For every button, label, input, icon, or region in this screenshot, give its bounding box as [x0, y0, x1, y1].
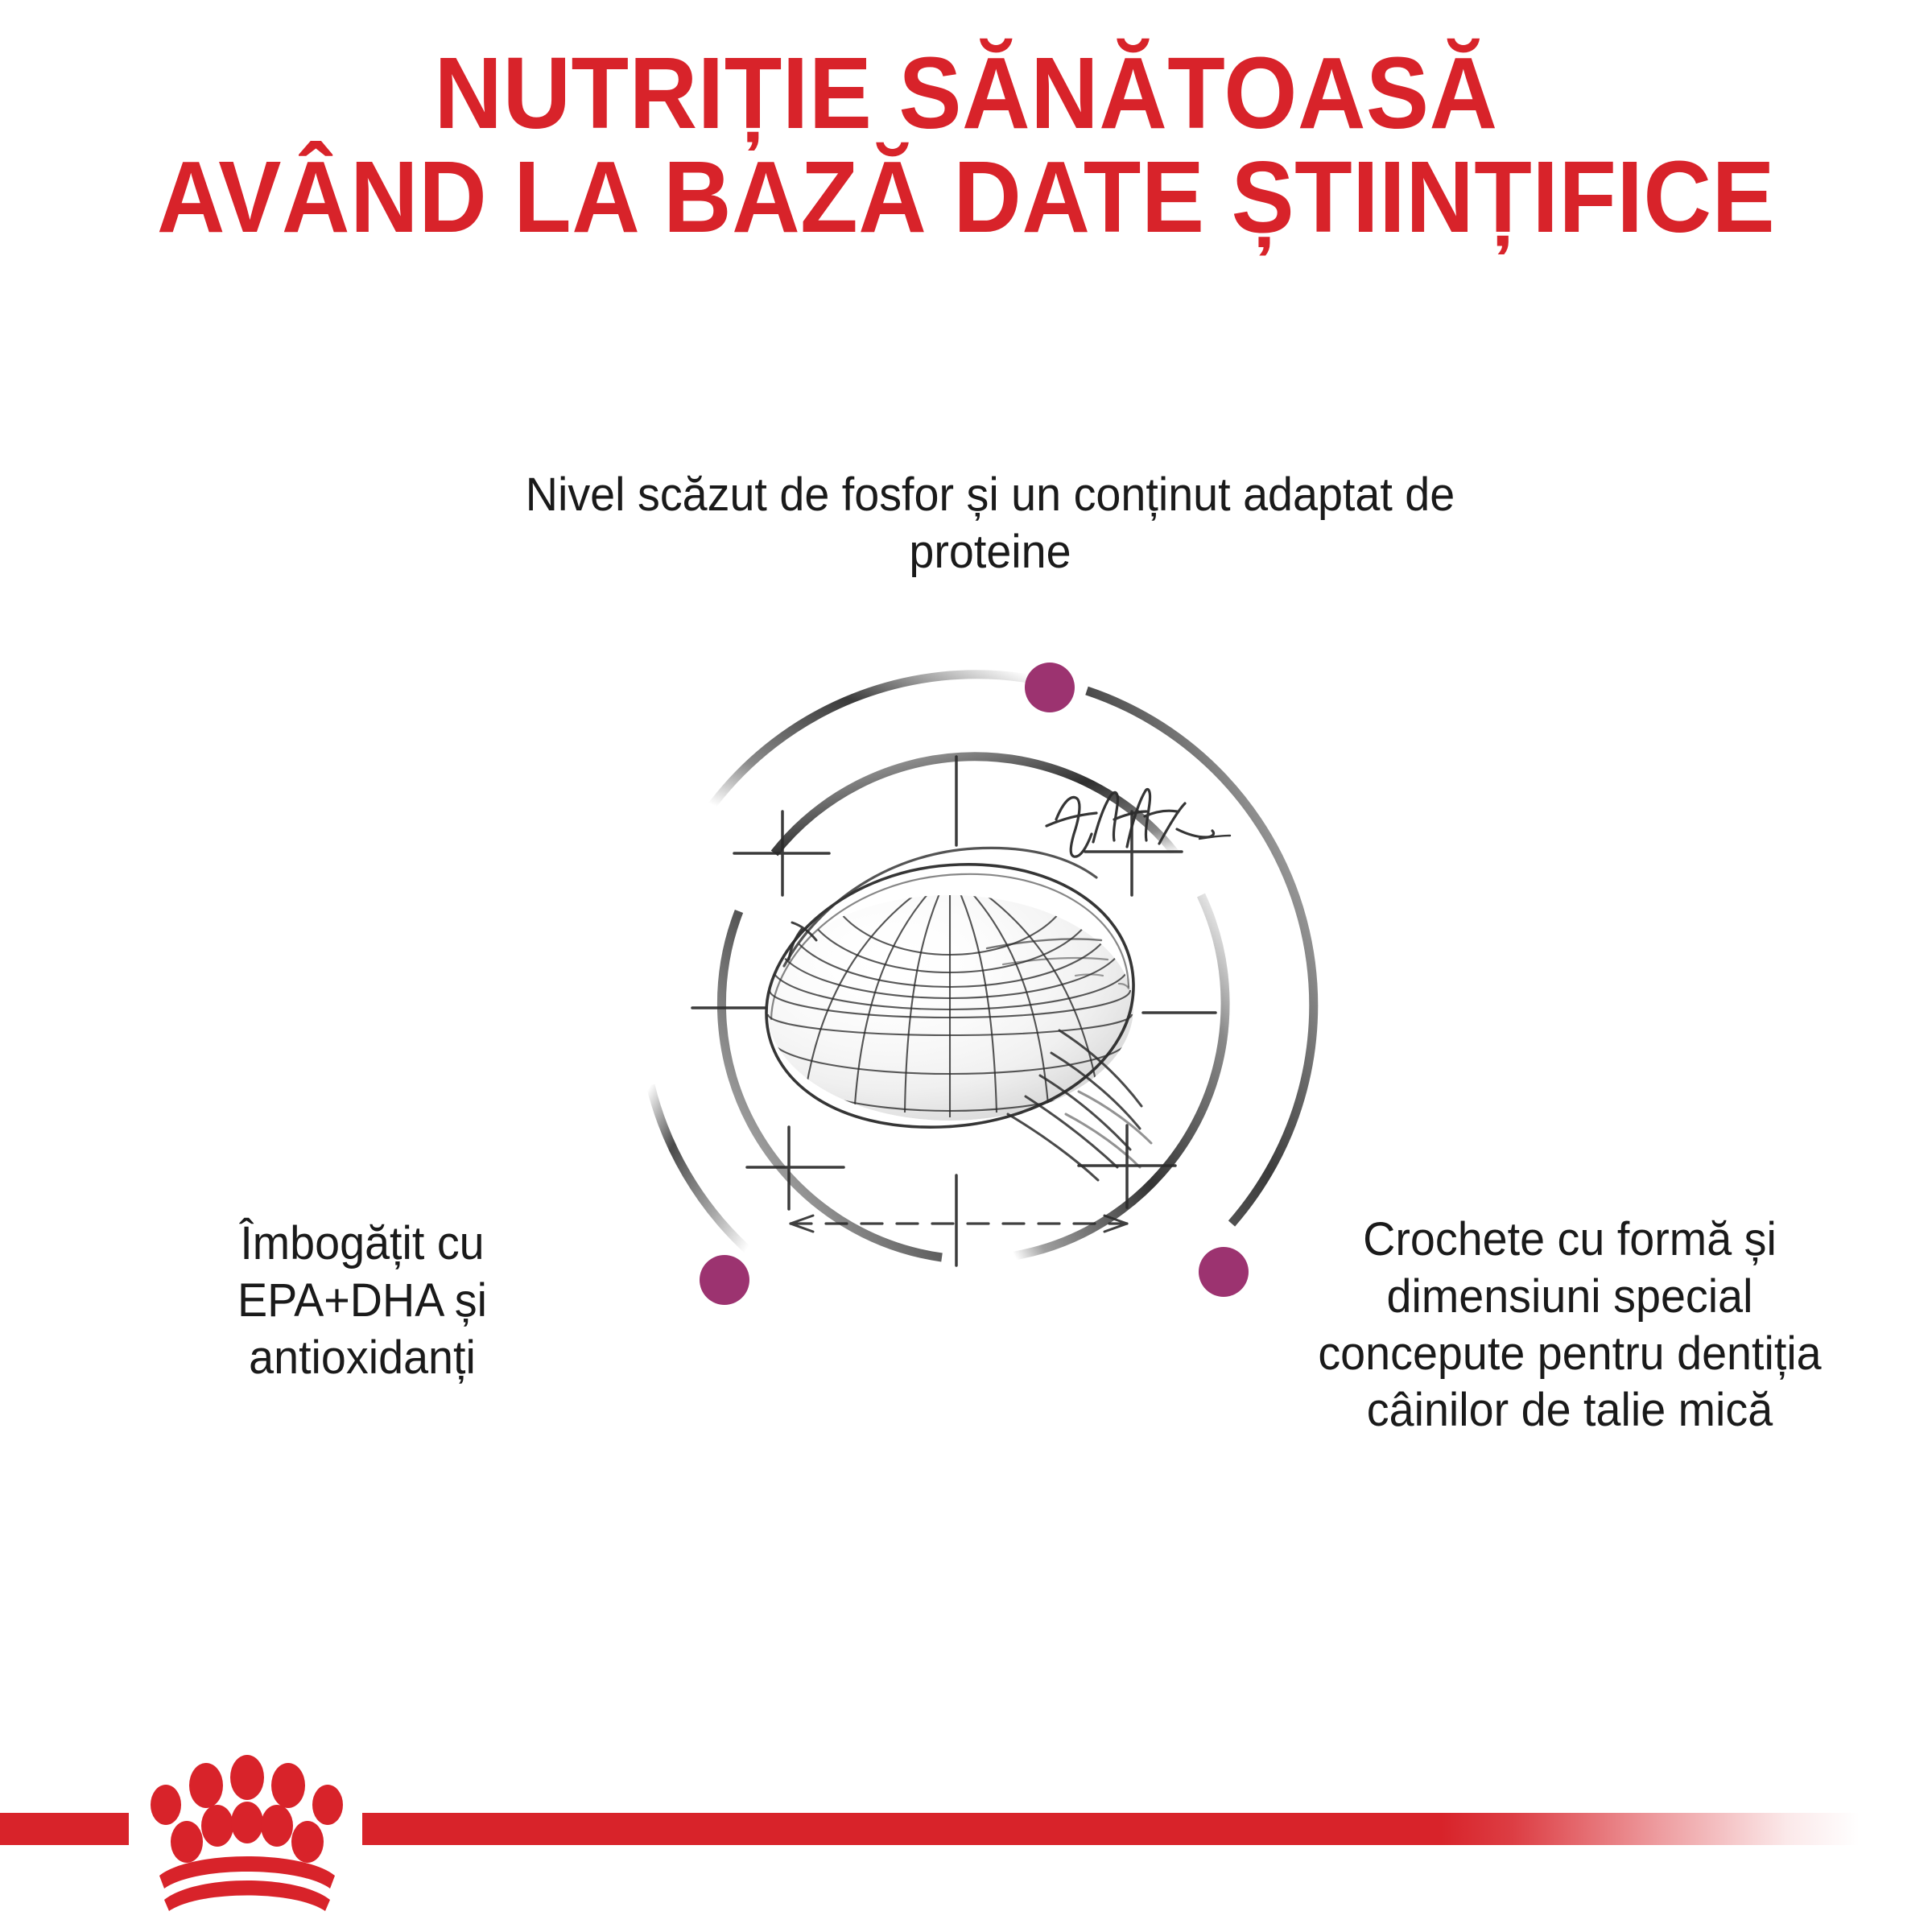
feature-caption-left: Îmbogățit cu EPA+DHA și antioxidanți	[130, 1216, 594, 1386]
royal-canin-logo	[129, 1753, 362, 1932]
marker-right-icon	[1199, 1247, 1249, 1297]
feature-caption-right: Crochete cu formă și dimensiuni special …	[1299, 1212, 1840, 1439]
page-title-line-1: NUTRIȚIE SĂNĂTOASĂ	[68, 42, 1864, 146]
marker-bottom-left-icon	[700, 1255, 749, 1305]
marker-top-right-icon	[1025, 663, 1075, 712]
feature-caption-top: Nivel scăzut de fosfor și un conținut ad…	[518, 467, 1461, 581]
page-title-line-2: AVÂND LA BAZĂ DATE ȘTIINȚIFICE	[68, 146, 1864, 250]
crown-icon	[151, 1755, 343, 1911]
kibble-diagram	[563, 612, 1368, 1417]
page-title: NUTRIȚIE SĂNĂTOASĂ AVÂND LA BAZĂ DATE ȘT…	[68, 42, 1864, 249]
